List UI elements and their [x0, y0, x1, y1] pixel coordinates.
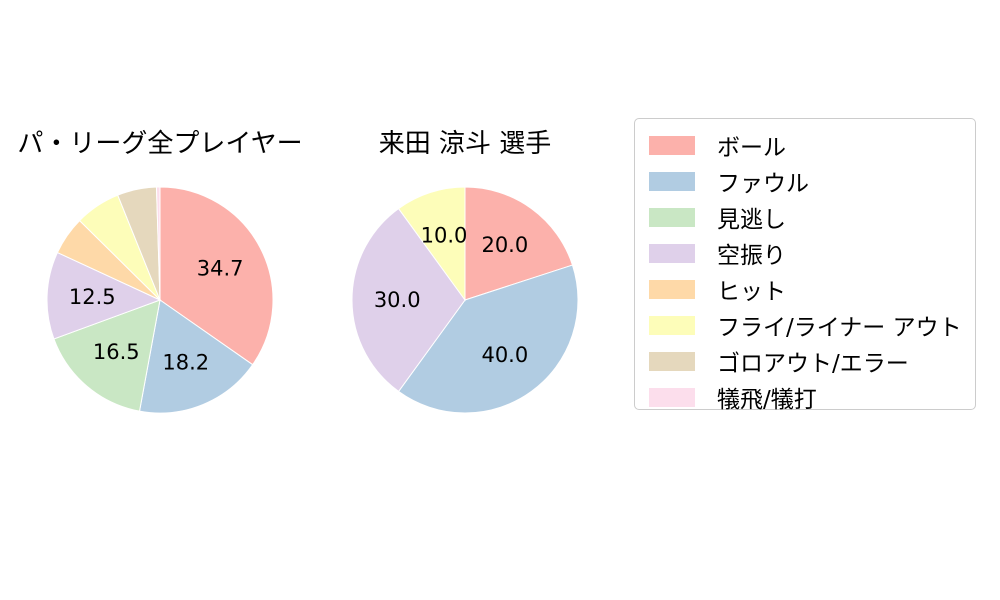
legend-swatch-icon — [649, 172, 695, 191]
league-pie-slice-value: 16.5 — [93, 340, 140, 364]
legend-item-label: 空振り — [717, 236, 786, 270]
legend-item-label: ゴロアウト/エラー — [717, 344, 909, 378]
legend-swatch-icon — [649, 388, 695, 407]
legend-swatch-icon — [649, 316, 695, 335]
legend-item-label: ファウル — [717, 164, 809, 198]
legend-item-label: 犠飛/犠打 — [717, 380, 817, 414]
legend-item[interactable]: フライ/ライナー アウト — [649, 307, 965, 343]
player-pie-slice-value: 10.0 — [421, 224, 468, 248]
legend-item-label: フライ/ライナー アウト — [717, 308, 962, 342]
pitch-result-legend: ボールファウル見逃し空振りヒットフライ/ライナー アウトゴロアウト/エラー犠飛/… — [634, 118, 976, 410]
legend-swatch-icon — [649, 244, 695, 263]
legend-item[interactable]: ファウル — [649, 163, 965, 199]
league-pie-slice-value: 12.5 — [69, 285, 116, 309]
player-pie-svg: 20.040.030.010.0 — [351, 186, 579, 414]
league-pie-chart: 34.718.216.512.5 — [46, 186, 274, 414]
legend-item[interactable]: 空振り — [649, 235, 965, 271]
player-pie-title: 来田 涼斗 選手 — [345, 123, 585, 160]
player-pie-slice-value: 40.0 — [481, 343, 528, 367]
legend-item-label: ヒット — [717, 272, 786, 306]
legend-item[interactable]: ゴロアウト/エラー — [649, 343, 965, 379]
legend-swatch-icon — [649, 136, 695, 155]
legend-swatch-icon — [649, 280, 695, 299]
legend-item[interactable]: ボール — [649, 127, 965, 163]
legend-swatch-icon — [649, 208, 695, 227]
player-pie-slice-value: 20.0 — [481, 233, 528, 257]
league-pie-slice-value: 18.2 — [162, 351, 209, 375]
pitch-result-figure: パ・リーグ全プレイヤー 34.718.216.512.5 来田 涼斗 選手 20… — [0, 0, 1000, 600]
league-pie-svg: 34.718.216.512.5 — [46, 186, 274, 414]
legend-item-label: 見逃し — [717, 200, 786, 234]
player-pie-slice-value: 30.0 — [374, 288, 421, 312]
legend-item-label: ボール — [717, 128, 786, 162]
legend-item[interactable]: 見逃し — [649, 199, 965, 235]
legend-swatch-icon — [649, 352, 695, 371]
player-pie-chart: 20.040.030.010.0 — [351, 186, 579, 414]
legend-item[interactable]: 犠飛/犠打 — [649, 379, 965, 415]
legend-item[interactable]: ヒット — [649, 271, 965, 307]
league-pie-slice-value: 34.7 — [197, 257, 244, 281]
league-pie-title: パ・リーグ全プレイヤー — [10, 123, 310, 160]
